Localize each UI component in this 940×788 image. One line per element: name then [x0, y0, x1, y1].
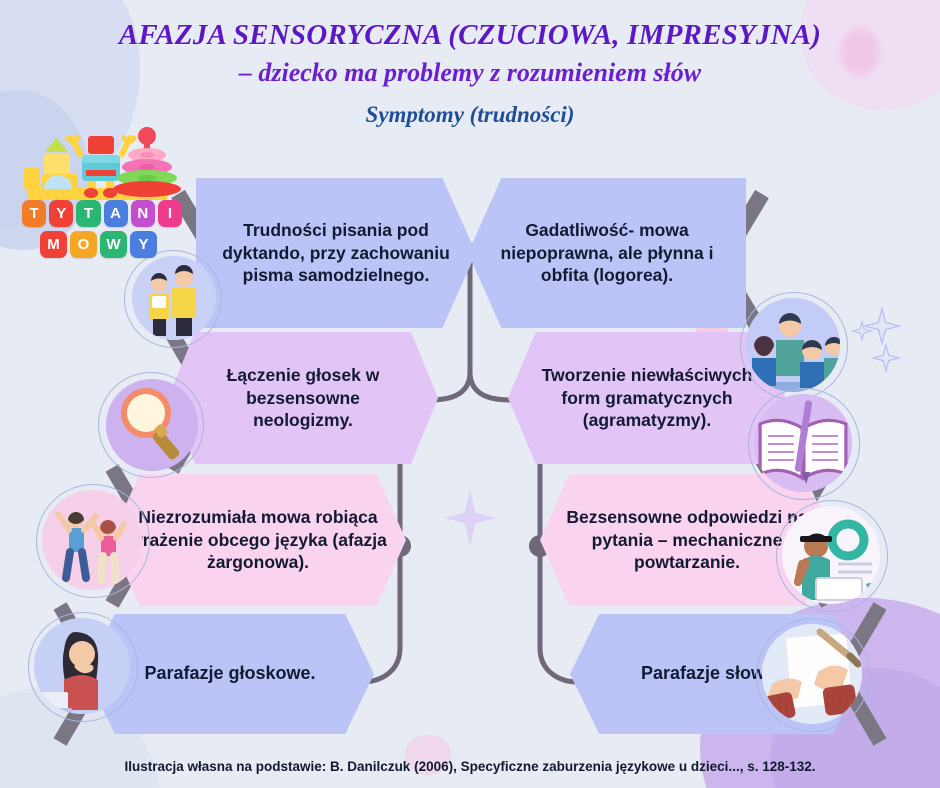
symptom-text: Niezrozumiała mowa robiąca wrażenie obce… — [128, 506, 388, 573]
symptom-text: Trudności pisania pod dyktando, przy zac… — [222, 219, 450, 286]
symptom-text: Tworzenie niewłaściwych form gramatyczny… — [534, 364, 760, 431]
logo-tile-t: T — [22, 200, 46, 227]
illustration-teacher-presenting-icon — [132, 256, 216, 340]
illustration-open-book-icon — [754, 394, 852, 492]
illustration-magnifying-glass-icon — [106, 379, 198, 471]
symptom-text: Gadatliwość- mowa niepoprawna, ale płynn… — [494, 219, 720, 286]
logo-tile-y: Y — [49, 200, 73, 227]
logo-row-mowy: MOWY — [40, 231, 182, 258]
logo-row-tytani: TYTANI — [22, 200, 182, 227]
logo-letter-tiles: TYTANI MOWY — [22, 200, 182, 258]
logo-tile-t: T — [76, 200, 100, 227]
page-subtitle-line: – dziecko ma problemy z rozumieniem słów — [0, 56, 940, 90]
logo-tile-o: O — [70, 231, 97, 258]
source-citation: Ilustracja własna na podstawie: B. Danil… — [0, 759, 940, 774]
page-title: AFAZJA SENSORYCZNA (CZUCIOWA, IMPRESYJNA… — [0, 18, 940, 53]
toys-illustration-icon — [10, 108, 185, 204]
logo-tile-n: N — [131, 200, 155, 227]
logo-tile-w: W — [100, 231, 127, 258]
symptom-card-trudnosci-pisania[interactable]: Trudności pisania pod dyktando, przy zac… — [196, 178, 476, 328]
symptom-text: Łączenie głosek w bezsensowne neologizmy… — [194, 364, 412, 431]
logo-tytani-mowy[interactable]: TYTANI MOWY — [10, 108, 185, 258]
illustration-celebrating-people-icon — [42, 490, 142, 590]
symptom-card-gadatliwosc[interactable]: Gadatliwość- mowa niepoprawna, ale płynn… — [468, 178, 746, 328]
symptom-card-laczenie-glosek[interactable]: Łączenie głosek w bezsensowne neologizmy… — [168, 332, 438, 464]
symptom-text: Parafazje głoskowe. — [144, 662, 315, 685]
illustration-hands-writing-icon — [762, 624, 862, 724]
illustration-group-of-people-icon — [746, 298, 840, 392]
illustration-woman-thinking-laptop-icon — [34, 618, 130, 714]
logo-tile-y: Y — [130, 231, 157, 258]
illustration-woman-with-laptop-icon — [782, 506, 880, 604]
symptom-card-niezrozumiala-mowa[interactable]: Niezrozumiała mowa robiąca wrażenie obce… — [110, 474, 406, 606]
logo-tile-i: I — [158, 200, 182, 227]
logo-tile-m: M — [40, 231, 67, 258]
logo-tile-a: A — [104, 200, 128, 227]
infographic-canvas: AFAZJA SENSORYCZNA (CZUCIOWA, IMPRESYJNA… — [0, 0, 940, 788]
